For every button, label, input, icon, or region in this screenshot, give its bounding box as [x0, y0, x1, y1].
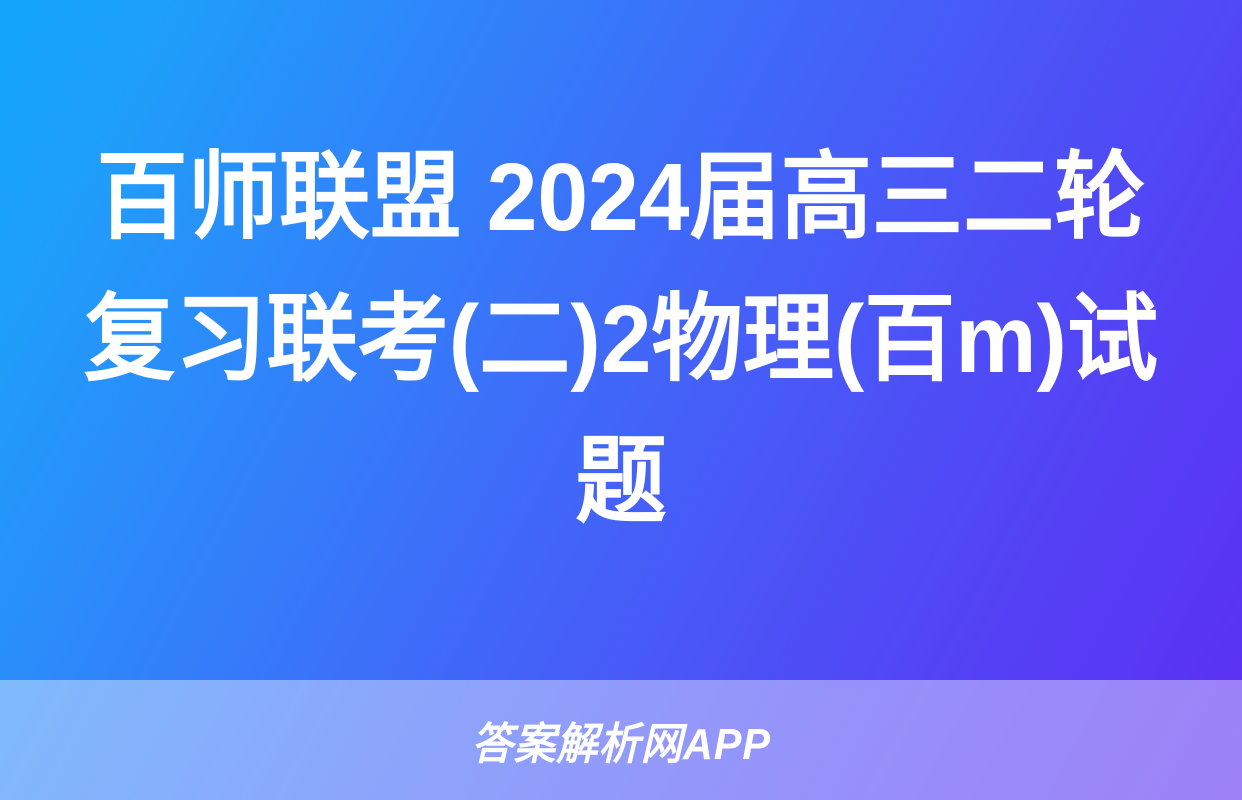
- watermark-band: 答案解析网APP: [0, 680, 1242, 800]
- title-container: 百师联盟 2024届高三二轮复习联考(二)2物理(百m)试题: [0, 0, 1242, 680]
- gradient-banner: 百师联盟 2024届高三二轮复习联考(二)2物理(百m)试题 答案解析网APP: [0, 0, 1242, 800]
- watermark-text: 答案解析网APP: [471, 708, 770, 772]
- page-title: 百师联盟 2024届高三二轮复习联考(二)2物理(百m)试题: [80, 127, 1161, 553]
